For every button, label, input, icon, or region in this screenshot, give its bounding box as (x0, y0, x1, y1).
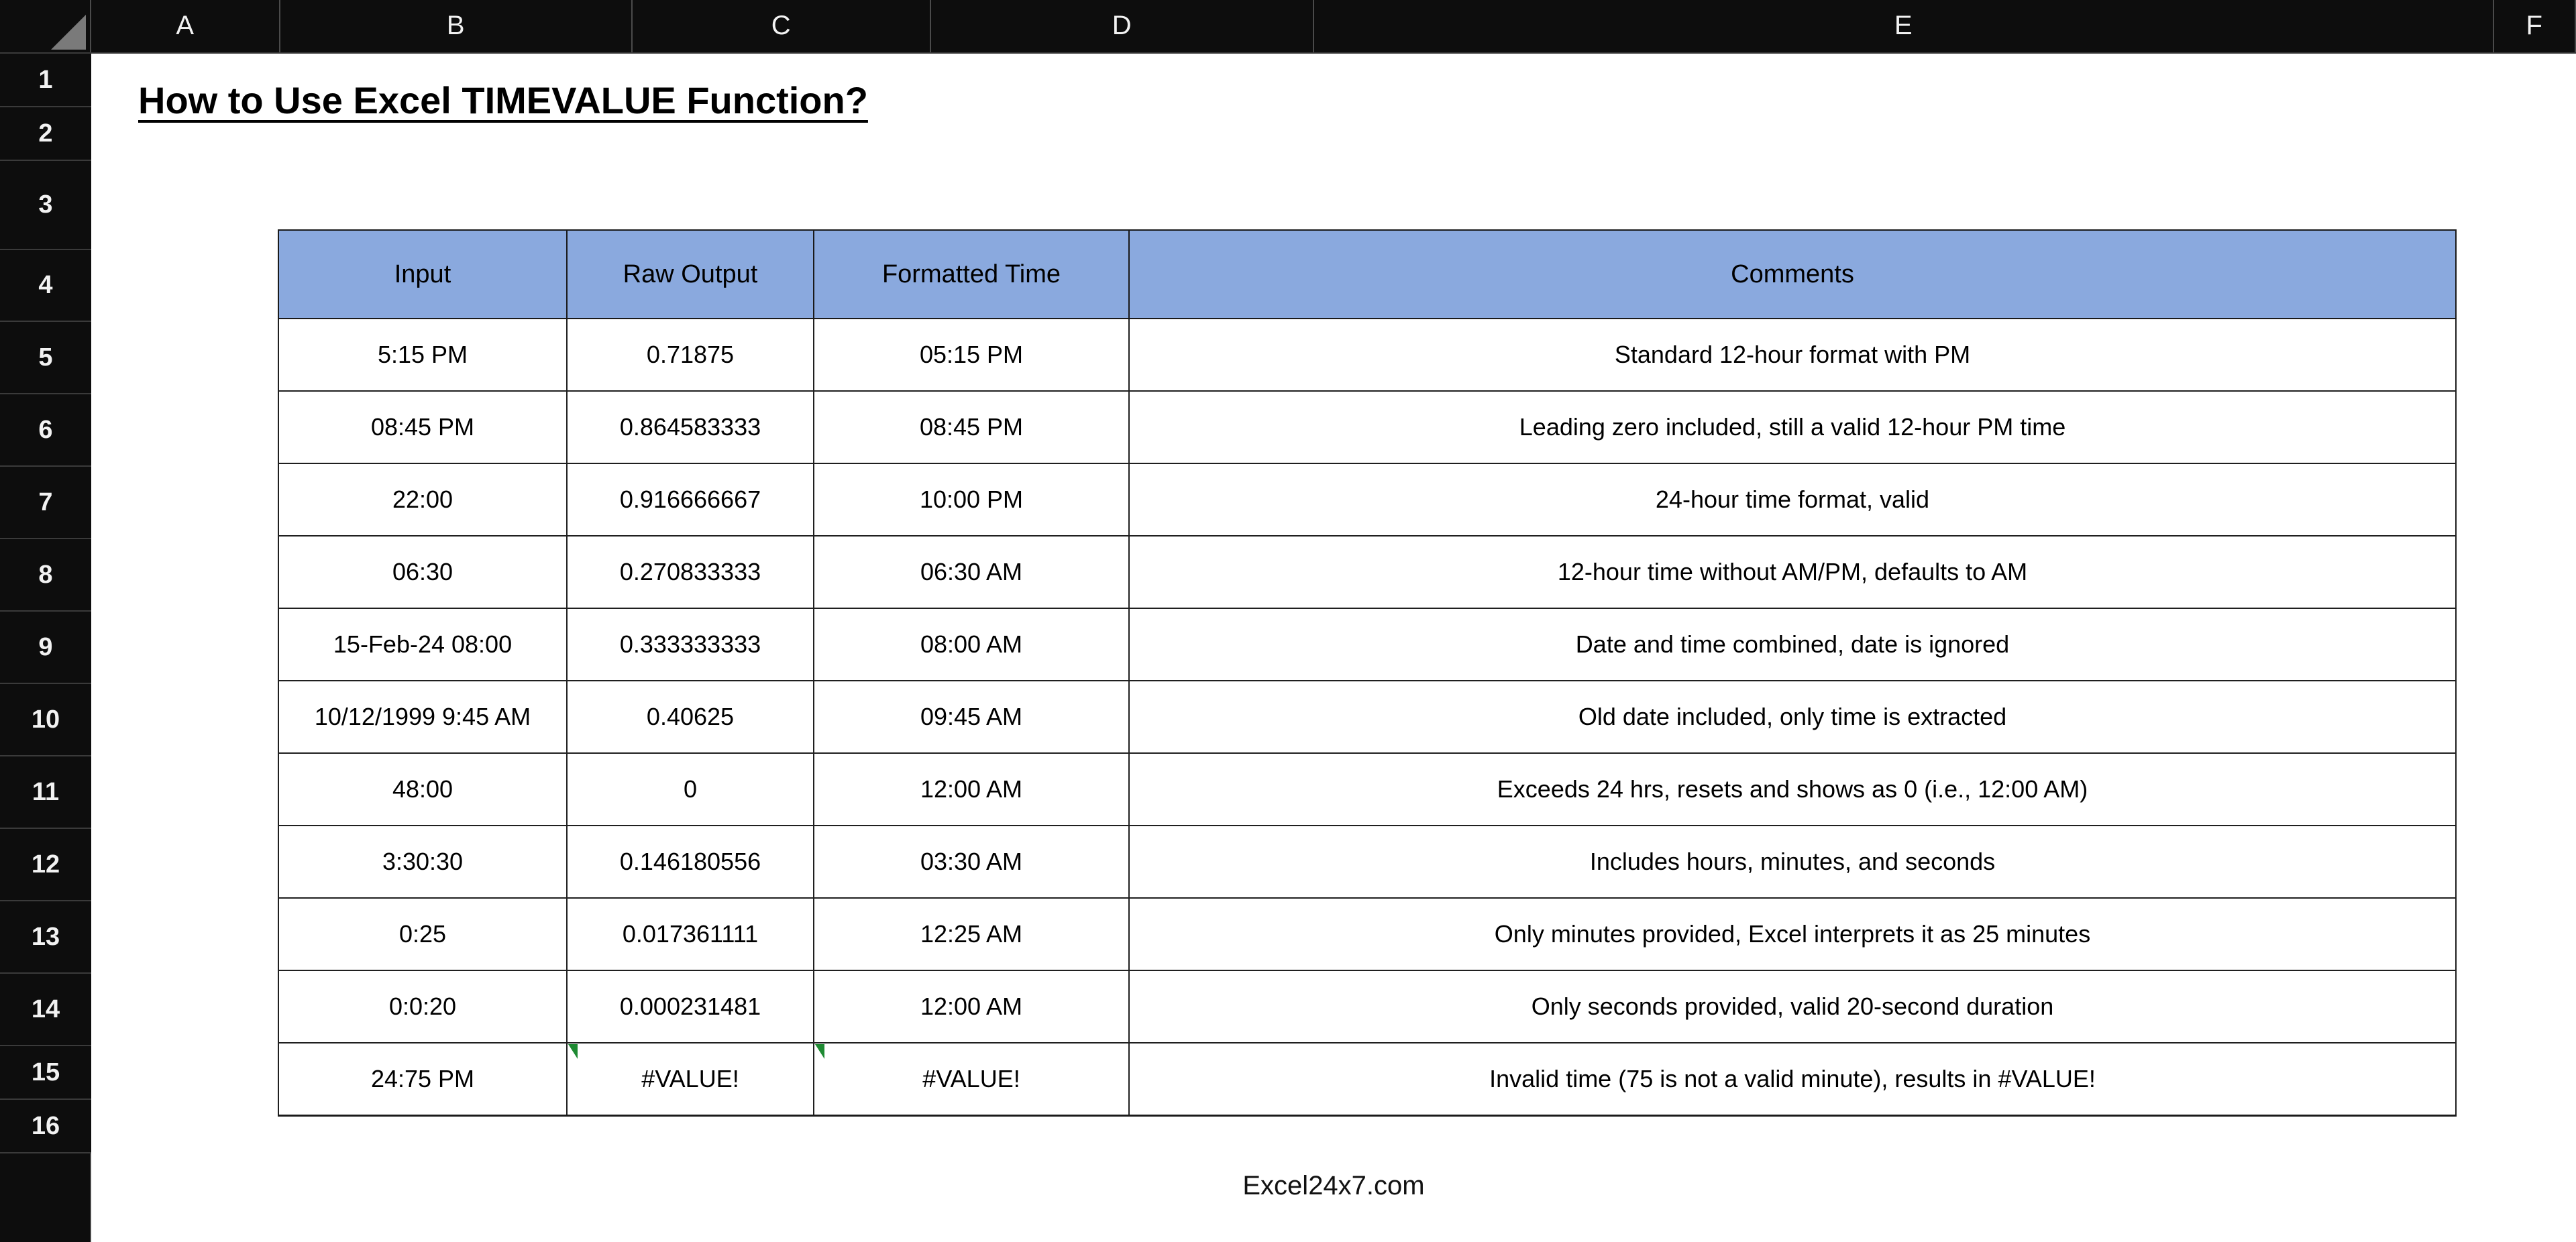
cell-formatted-time[interactable]: 12:25 AM (814, 898, 1129, 970)
table-header-row: Input Raw Output Formatted Time Comments (278, 230, 2456, 319)
column-header-e[interactable]: E (1314, 0, 2494, 52)
cell-formatted-time[interactable]: 12:00 AM (814, 753, 1129, 826)
column-header-b[interactable]: B (280, 0, 633, 52)
column-header-bar: ABCDEF (0, 0, 2576, 54)
cell-input[interactable]: 48:00 (278, 753, 567, 826)
cell-raw-output[interactable]: 0.146180556 (567, 826, 814, 898)
cell-raw-output[interactable]: 0.000231481 (567, 970, 814, 1043)
cell-input[interactable]: 0:25 (278, 898, 567, 970)
cell-formatted-time[interactable]: 10:00 PM (814, 463, 1129, 536)
select-all-corner-triangle-icon (51, 15, 86, 50)
cell-comments[interactable]: 24-hour time format, valid (1129, 463, 2456, 536)
row-header-9[interactable]: 9 (0, 612, 91, 684)
row-header-14[interactable]: 14 (0, 974, 91, 1046)
table-row: 08:45 PM0.86458333308:45 PMLeading zero … (278, 391, 2456, 463)
cell-raw-output[interactable]: 0.916666667 (567, 463, 814, 536)
row-header-5[interactable]: 5 (0, 322, 91, 394)
table-row: 0:250.01736111112:25 AMOnly minutes prov… (278, 898, 2456, 970)
cell-input[interactable]: 5:15 PM (278, 319, 567, 391)
cell-raw-output[interactable]: 0.333333333 (567, 608, 814, 681)
row-header-8[interactable]: 8 (0, 539, 91, 612)
table-row: 3:30:300.14618055603:30 AMIncludes hours… (278, 826, 2456, 898)
cell-formatted-time[interactable]: 06:30 AM (814, 536, 1129, 608)
excel-worksheet: ABCDEF 12345678910111213141516 How to Us… (0, 0, 2576, 1242)
column-header-f[interactable]: F (2494, 0, 2576, 52)
cell-comments[interactable]: Only minutes provided, Excel interprets … (1129, 898, 2456, 970)
cell-formatted-time[interactable]: 05:15 PM (814, 319, 1129, 391)
row-header-3[interactable]: 3 (0, 161, 91, 250)
cell-raw-output[interactable]: 0.40625 (567, 681, 814, 753)
site-watermark: Excel24x7.com (91, 1171, 2576, 1201)
cell-comments[interactable]: Exceeds 24 hrs, resets and shows as 0 (i… (1129, 753, 2456, 826)
cell-input[interactable]: 15-Feb-24 08:00 (278, 608, 567, 681)
table-row: 22:000.91666666710:00 PM24-hour time for… (278, 463, 2456, 536)
cell-formatted-time[interactable]: 03:30 AM (814, 826, 1129, 898)
cell-formatted-time[interactable]: 12:00 AM (814, 970, 1129, 1043)
table-row: 48:00012:00 AMExceeds 24 hrs, resets and… (278, 753, 2456, 826)
column-header-comments: Comments (1129, 230, 2456, 319)
row-header-10[interactable]: 10 (0, 684, 91, 756)
row-header-4[interactable]: 4 (0, 250, 91, 322)
row-header-6[interactable]: 6 (0, 394, 91, 467)
column-header-c[interactable]: C (633, 0, 931, 52)
row-header-7[interactable]: 7 (0, 467, 91, 539)
column-header-raw-output: Raw Output (567, 230, 814, 319)
sheet-canvas: How to Use Excel TIMEVALUE Function? Inp… (91, 54, 2576, 1242)
cell-raw-output[interactable]: 0.270833333 (567, 536, 814, 608)
cell-formatted-time[interactable]: 08:00 AM (814, 608, 1129, 681)
row-header-2[interactable]: 2 (0, 107, 91, 161)
cell-raw-output[interactable]: 0.864583333 (567, 391, 814, 463)
row-header-bar: 12345678910111213141516 (0, 54, 91, 1242)
row-header-12[interactable]: 12 (0, 829, 91, 901)
table-row: 24:75 PM#VALUE!#VALUE!Invalid time (75 i… (278, 1043, 2456, 1115)
table-row: 5:15 PM0.7187505:15 PMStandard 12-hour f… (278, 319, 2456, 391)
table-row: 15-Feb-24 08:000.33333333308:00 AMDate a… (278, 608, 2456, 681)
row-header-13[interactable]: 13 (0, 901, 91, 974)
error-flag-icon[interactable] (568, 1044, 578, 1059)
cell-input[interactable]: 22:00 (278, 463, 567, 536)
cell-input[interactable]: 0:0:20 (278, 970, 567, 1043)
cell-raw-output[interactable]: 0.71875 (567, 319, 814, 391)
cell-raw-output[interactable]: #VALUE! (567, 1043, 814, 1115)
row-header-11[interactable]: 11 (0, 756, 91, 829)
cell-formatted-time[interactable]: #VALUE! (814, 1043, 1129, 1115)
timevalue-examples-table: Input Raw Output Formatted Time Comments… (278, 229, 2457, 1117)
cell-comments[interactable]: Includes hours, minutes, and seconds (1129, 826, 2456, 898)
cell-input[interactable]: 06:30 (278, 536, 567, 608)
column-header-input: Input (278, 230, 567, 319)
cell-raw-output[interactable]: 0 (567, 753, 814, 826)
row-header-15[interactable]: 15 (0, 1046, 91, 1100)
cell-formatted-time[interactable]: 08:45 PM (814, 391, 1129, 463)
cell-comments[interactable]: Standard 12-hour format with PM (1129, 319, 2456, 391)
page-title: How to Use Excel TIMEVALUE Function? (138, 79, 868, 122)
row-header-16[interactable]: 16 (0, 1100, 91, 1153)
column-header-a[interactable]: A (91, 0, 280, 52)
cell-comments[interactable]: Invalid time (75 is not a valid minute),… (1129, 1043, 2456, 1115)
cell-comments[interactable]: Only seconds provided, valid 20-second d… (1129, 970, 2456, 1043)
cell-input[interactable]: 24:75 PM (278, 1043, 567, 1115)
error-flag-icon[interactable] (815, 1044, 824, 1059)
cell-input[interactable]: 3:30:30 (278, 826, 567, 898)
cell-comments[interactable]: Date and time combined, date is ignored (1129, 608, 2456, 681)
column-header-d[interactable]: D (931, 0, 1314, 52)
table-row: 10/12/1999 9:45 AM0.4062509:45 AMOld dat… (278, 681, 2456, 753)
cell-raw-output[interactable]: 0.017361111 (567, 898, 814, 970)
column-header-formatted-time: Formatted Time (814, 230, 1129, 319)
cell-comments[interactable]: 12-hour time without AM/PM, defaults to … (1129, 536, 2456, 608)
select-all-button[interactable] (0, 0, 91, 52)
table-row: 06:300.27083333306:30 AM12-hour time wit… (278, 536, 2456, 608)
cell-input[interactable]: 08:45 PM (278, 391, 567, 463)
table-row: 0:0:200.00023148112:00 AMOnly seconds pr… (278, 970, 2456, 1043)
table-body: 5:15 PM0.7187505:15 PMStandard 12-hour f… (278, 319, 2456, 1115)
row-header-1[interactable]: 1 (0, 54, 91, 107)
cell-formatted-time[interactable]: 09:45 AM (814, 681, 1129, 753)
cell-comments[interactable]: Old date included, only time is extracte… (1129, 681, 2456, 753)
cell-comments[interactable]: Leading zero included, still a valid 12-… (1129, 391, 2456, 463)
cell-input[interactable]: 10/12/1999 9:45 AM (278, 681, 567, 753)
